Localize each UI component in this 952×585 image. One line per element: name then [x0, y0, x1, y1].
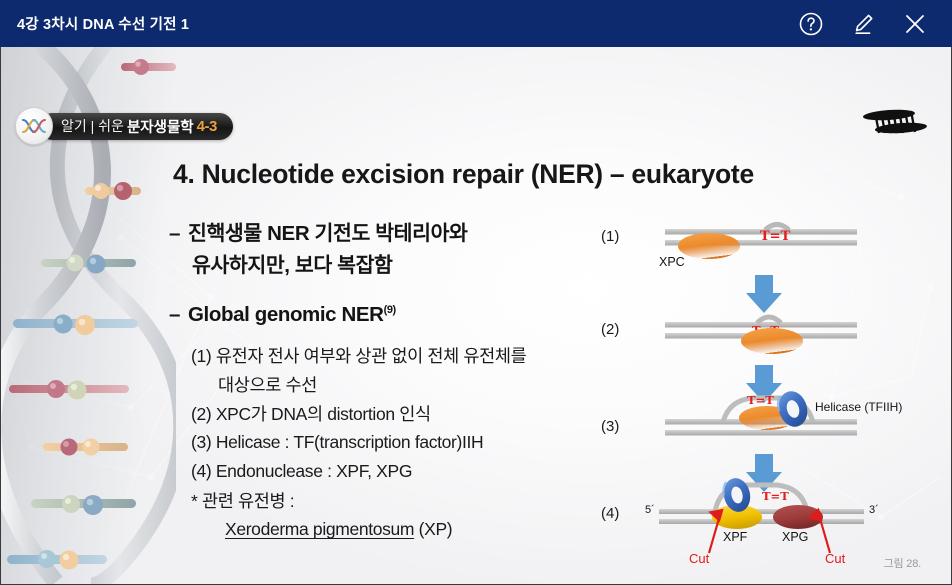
flow-arrow-1 [746, 275, 782, 313]
bullet-dash: – [169, 222, 180, 245]
course-logo-badge: 알기 | 쉬운 분자생물학 4-3 [15, 109, 233, 143]
figure-step-label-3: (3) [601, 418, 619, 435]
xpf-label: XPF [723, 530, 748, 544]
sub-item-5: * 관련 유전병 : [191, 487, 589, 516]
cut-label-left: Cut [689, 551, 710, 566]
slide-canvas: 알기 | 쉬운 분자생물학 4-3 4. Nucleotide excision… [0, 47, 952, 585]
bullet-2-line1: Global genomic NER [188, 303, 384, 326]
help-icon[interactable] [798, 11, 824, 37]
presentation-viewer: 4강 3차시 DNA 수선 기전 1 [0, 0, 952, 585]
slide-heading: 4. Nucleotide excision repair (NER) – eu… [173, 159, 873, 190]
bullet-1-line1: 진핵생물 NER 기전도 박테리아와 [188, 222, 468, 245]
sub-item-3: (3) Helicase : TF(transcription factor)I… [191, 428, 589, 457]
xpc-protein-1 [678, 233, 740, 259]
xpc-protein-2 [741, 328, 803, 354]
bullet-item-2: –Global genomic NER(9) [169, 300, 589, 329]
bullet-item-1: –진핵생물 NER 기전도 박테리아와 [169, 219, 589, 248]
three-prime-label: 3´ [869, 504, 879, 516]
xpg-protein [773, 505, 823, 529]
lesion-label-1: T=T [760, 229, 791, 244]
xpg-label: XPG [782, 530, 808, 544]
logo-text-part3: 4-3 [197, 118, 217, 135]
bullet-2-superscript: (9) [384, 304, 396, 316]
logo-text-part1: 알기 | 쉬운 [61, 116, 124, 136]
cut-label-right: Cut [825, 551, 846, 566]
xpc-label-1: XPC [659, 255, 685, 269]
disease-abbrev: (XP) [414, 519, 452, 539]
ner-mechanism-figure: (1) T=T XPC (2) [597, 219, 937, 579]
title-bar: 4강 3차시 DNA 수선 기전 1 [0, 0, 952, 47]
figure-step-label-2: (2) [601, 321, 619, 338]
sub-item-2: (2) XPC가 DNA의 distortion 인식 [191, 400, 589, 429]
close-icon[interactable] [902, 11, 928, 37]
logo-text-part2: 분자생물학 [127, 116, 194, 137]
titlebar-actions [798, 11, 928, 37]
slide-body-text: –진핵생물 NER 기전도 박테리아와 유사하지만, 보다 복잡함 –Globa… [169, 219, 589, 544]
helicase-label: Helicase (TFIIH) [815, 400, 902, 414]
sub-item-list: (1) 유전자 전사 여부와 상관 없이 전체 유전체를 대상으로 수선 (2)… [169, 342, 589, 544]
figure-caption: 그림 28. [884, 555, 921, 571]
pen-icon[interactable] [850, 11, 876, 37]
five-prime-label: 5´ [645, 504, 655, 516]
dna-ladder-icon [859, 103, 931, 139]
sub-item-4: (4) Endonuclease : XPF, XPG [191, 457, 589, 486]
page-title: 4강 3차시 DNA 수선 기전 1 [17, 13, 189, 34]
bullet-dash-2: – [169, 303, 180, 326]
logo-mark-icon [15, 107, 53, 145]
lesion-label-3: T=T [747, 393, 774, 407]
figure-step-label-4: (4) [601, 505, 619, 522]
lesion-label-4: T=T [762, 489, 789, 503]
logo-pill: 알기 | 쉬운 분자생물학 4-3 [39, 113, 233, 140]
disease-name: Xeroderma pigmentosum [225, 519, 414, 539]
related-disease-line: Xeroderma pigmentosum (XP) [191, 515, 589, 544]
sub-item-1-cont: 대상으로 수선 [191, 371, 589, 400]
bullet-1-line2: 유사하지만, 보다 복잡함 [169, 248, 589, 278]
sub-item-1: (1) 유전자 전사 여부와 상관 없이 전체 유전체를 [191, 342, 589, 371]
figure-step-label-1: (1) [601, 228, 619, 245]
